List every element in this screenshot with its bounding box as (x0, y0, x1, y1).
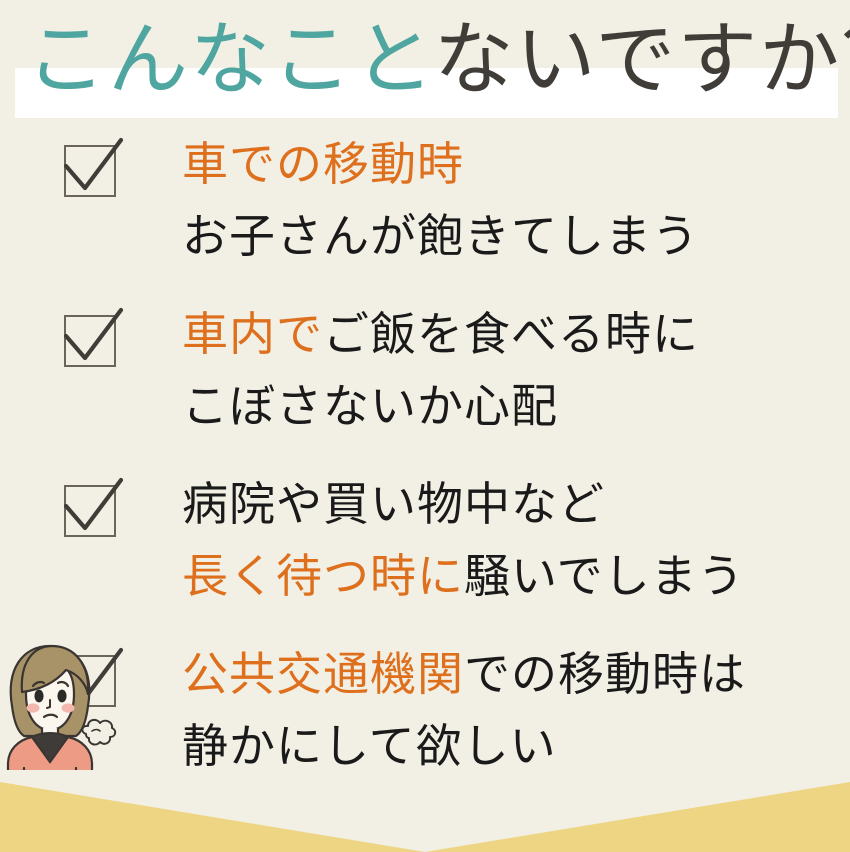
checklist-item-line-2: 長く待つ時に騒いでしまう (182, 540, 850, 612)
sigh-puff-icon (78, 714, 118, 752)
checkbox-cell (0, 128, 182, 196)
checklist-item-line-2: こぼさないか心配 (182, 370, 850, 442)
checklist-item-text: 車内でご飯を食べる時にこぼさないか心配 (182, 298, 850, 442)
page-title-block: こんなことないですか？ (0, 0, 850, 130)
checkbox-checked-icon[interactable] (63, 140, 119, 196)
text-segment: 長く待つ時に (182, 550, 464, 602)
page-title-teal-part: こんなこと (26, 15, 434, 104)
page-title-dark-part: ないですか？ (434, 15, 850, 104)
promo-graphic-canvas: こんなことないですか？ 車での移動時お子さんが飽きてしまう車内でご飯を食べる時に… (0, 0, 850, 852)
page-title: こんなことないですか？ (26, 8, 836, 112)
checklist-item-line-1: 病院や買い物中など (182, 468, 850, 540)
checklist-item-text: 車での移動時お子さんが飽きてしまう (182, 128, 850, 272)
text-segment: での移動時は (464, 648, 746, 700)
text-segment: 公共交通機関 (182, 648, 464, 700)
checklist-item-line-2: お子さんが飽きてしまう (182, 200, 850, 272)
highlighted-text-segment: 騒いでしまう (464, 540, 745, 612)
checklist-item: 車内でご飯を食べる時にこぼさないか心配 (0, 298, 850, 468)
checkbox-cell (0, 298, 182, 366)
checkbox-cell (0, 468, 182, 536)
highlighted-text-segment: こぼさないか (182, 370, 464, 442)
checklist: 車での移動時お子さんが飽きてしまう車内でご飯を食べる時にこぼさないか心配病院や買… (0, 128, 850, 808)
checkbox-checked-icon[interactable] (63, 310, 119, 366)
checklist-item: 病院や買い物中など長く待つ時に騒いでしまう (0, 468, 850, 638)
checklist-item: 車での移動時お子さんが飽きてしまう (0, 128, 850, 298)
text-segment: お子さんが (182, 210, 417, 262)
text-segment: 車内で (182, 308, 323, 360)
checklist-item-line-1: 公共交通機関での移動時は (182, 638, 850, 710)
text-segment: 車での移動時 (182, 138, 464, 190)
checkbox-checked-icon[interactable] (63, 480, 119, 536)
highlighted-text-segment: 飽きてしまう (417, 200, 699, 272)
bottom-yellow-band (0, 770, 850, 852)
checklist-item-text: 病院や買い物中など長く待つ時に騒いでしまう (182, 468, 850, 612)
text-segment: 心配 (464, 380, 558, 432)
text-segment: 病院や買い物中など (182, 478, 605, 530)
text-segment: ご飯を食べる時に (323, 308, 699, 360)
checklist-item-line-1: 車での移動時 (182, 128, 850, 200)
checklist-item-line-1: 車内でご飯を食べる時に (182, 298, 850, 370)
checklist-item-text: 公共交通機関での移動時は静かにして欲しい (182, 638, 850, 782)
